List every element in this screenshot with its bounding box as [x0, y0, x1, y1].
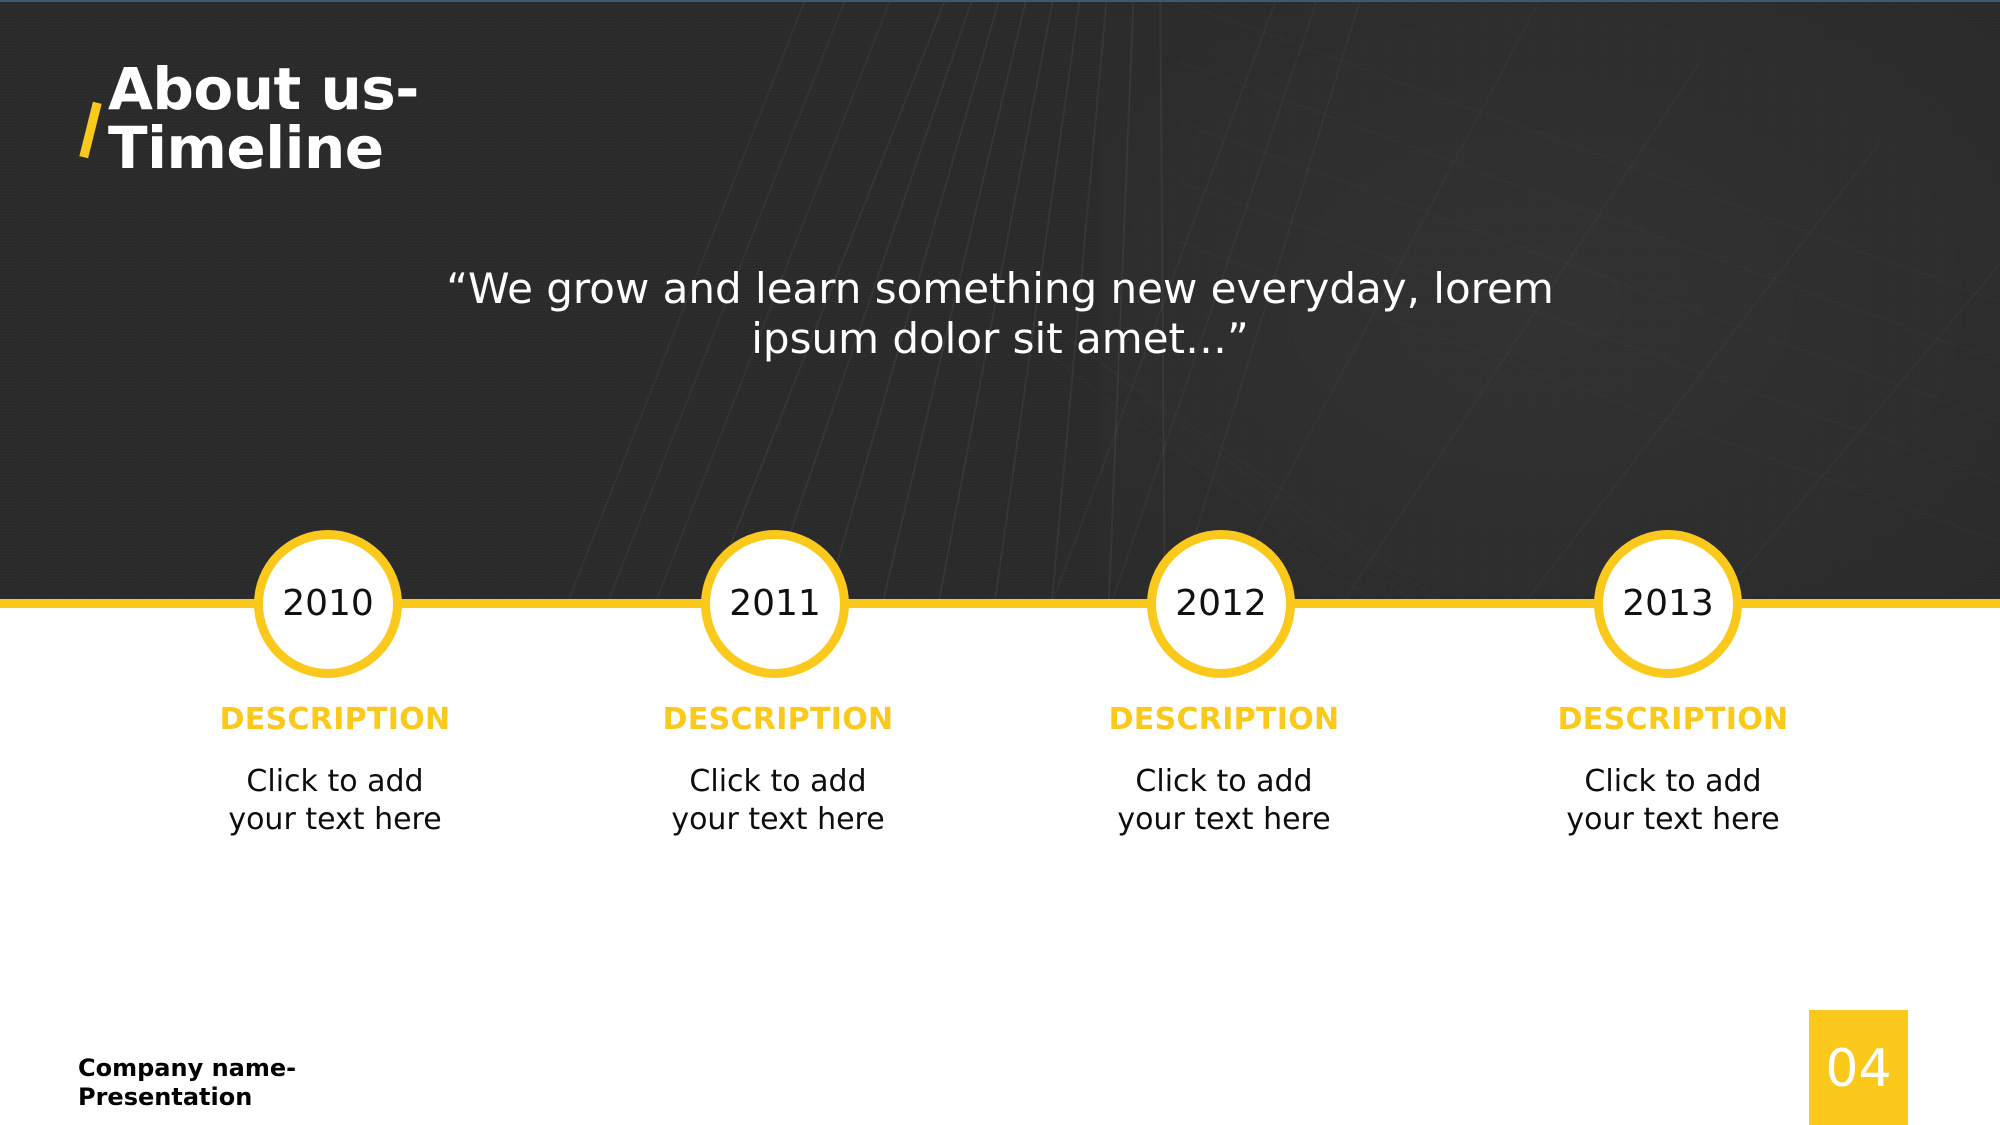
timeline-milestone-2011[interactable]: 2011: [701, 530, 849, 678]
description-heading: DESCRIPTION: [165, 702, 505, 737]
milestone-description-2010[interactable]: DESCRIPTION Click to add your text here: [165, 702, 505, 840]
timeline-milestone-2010[interactable]: 2010: [254, 530, 402, 678]
timeline-milestone-2013[interactable]: 2013: [1594, 530, 1742, 678]
description-heading: DESCRIPTION: [608, 702, 948, 737]
description-body[interactable]: Click to add your text here: [165, 763, 505, 840]
description-heading: DESCRIPTION: [1503, 702, 1843, 737]
footer-company-name: Company name- Presentation: [78, 1054, 296, 1112]
page-title-block: About us- Timeline: [108, 60, 419, 178]
milestone-year-circle[interactable]: 2011: [701, 530, 849, 678]
milestone-year-label: 2010: [282, 586, 374, 622]
milestone-description-2012[interactable]: DESCRIPTION Click to add your text here: [1054, 702, 1394, 840]
milestone-description-2011[interactable]: DESCRIPTION Click to add your text here: [608, 702, 948, 840]
milestone-year-label: 2011: [729, 586, 821, 622]
milestone-year-label: 2012: [1175, 586, 1267, 622]
milestone-year-circle[interactable]: 2010: [254, 530, 402, 678]
page-title: About us- Timeline: [108, 60, 419, 178]
description-body[interactable]: Click to add your text here: [1054, 763, 1394, 840]
milestone-year-label: 2013: [1622, 586, 1714, 622]
slide-canvas: About us- Timeline “We grow and learn so…: [0, 0, 2000, 1125]
description-heading: DESCRIPTION: [1054, 702, 1394, 737]
description-body[interactable]: Click to add your text here: [608, 763, 948, 840]
hero-quote: “We grow and learn something new everyda…: [400, 264, 1600, 363]
page-number-badge: 04: [1809, 1010, 1908, 1125]
milestone-year-circle[interactable]: 2013: [1594, 530, 1742, 678]
timeline-milestone-2012[interactable]: 2012: [1147, 530, 1295, 678]
page-number: 04: [1825, 1043, 1891, 1095]
description-body[interactable]: Click to add your text here: [1503, 763, 1843, 840]
milestone-description-2013[interactable]: DESCRIPTION Click to add your text here: [1503, 702, 1843, 840]
milestone-year-circle[interactable]: 2012: [1147, 530, 1295, 678]
